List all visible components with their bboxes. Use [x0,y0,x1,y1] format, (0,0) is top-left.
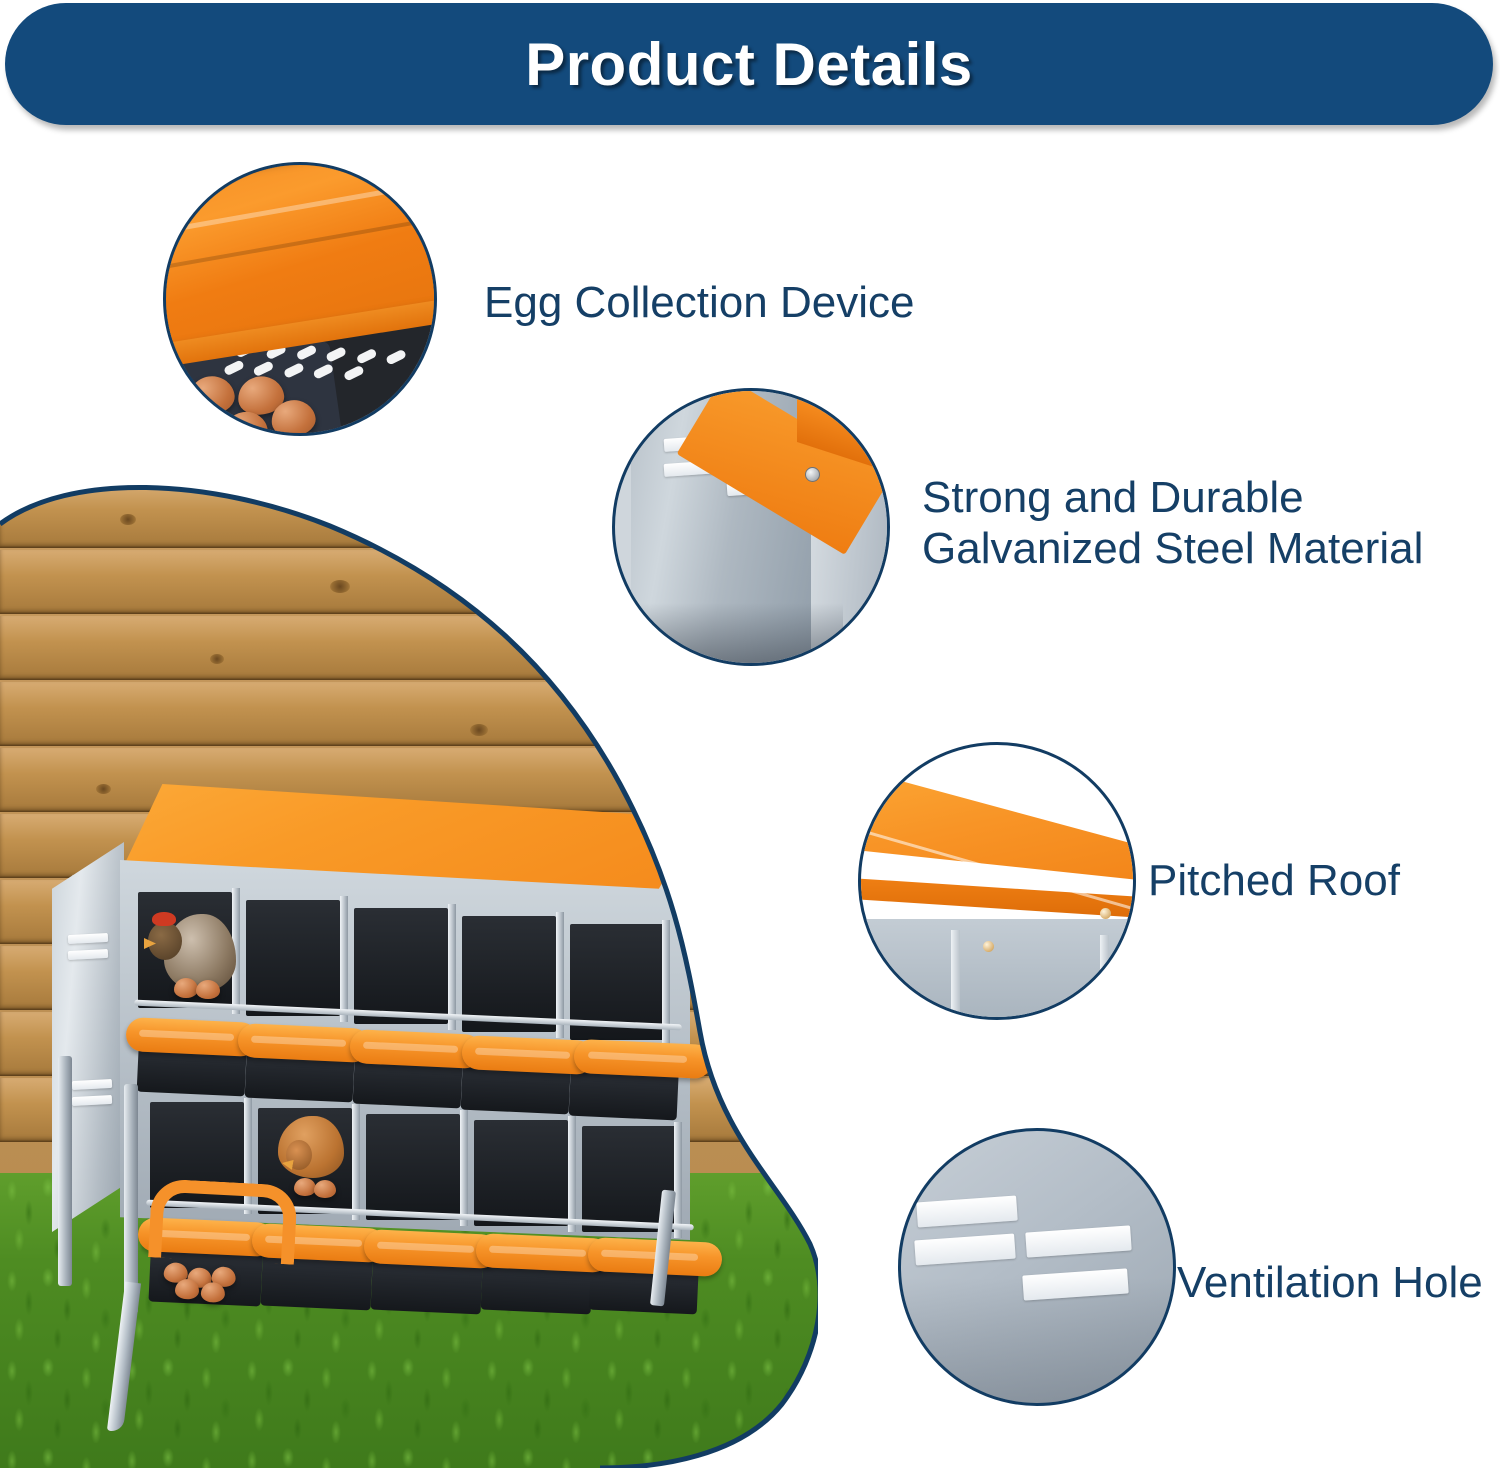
nest-cell [474,1120,568,1226]
callout-ventilation-hole [898,1128,1176,1406]
nest-cell [246,900,340,1016]
perch-tray [573,1039,712,1079]
callout-label-pitched-roof: Pitched Roof [1148,856,1400,907]
callout-label-egg-collection-device: Egg Collection Device [484,278,914,329]
steel-wall-below-roof [861,919,1133,1017]
support-leg [58,1056,72,1286]
vent-slot [917,1196,1019,1228]
callout-pitched-roof [858,742,1136,1020]
page-title: Product Details [525,30,973,99]
orange-roof-sliver [1064,1128,1176,1213]
carry-handle [148,1178,298,1265]
chicken-nesting-box [42,784,742,1344]
callout-egg-collection-device [163,162,437,436]
vent-slot [914,1234,1016,1266]
roof-bolt [1100,908,1111,919]
callout-label-galvanized-steel: Strong and Durable Galvanized Steel Mate… [922,473,1423,574]
hen-upper [144,894,240,998]
page-header-banner: Product Details [5,3,1493,125]
nest-cell [366,1114,460,1220]
support-leg [124,1084,138,1314]
nest-cell [354,908,448,1024]
vent-slot [1025,1225,1131,1257]
callout-galvanized-steel [612,388,890,666]
callout-label-ventilation-hole: Ventilation Hole [1177,1258,1483,1309]
